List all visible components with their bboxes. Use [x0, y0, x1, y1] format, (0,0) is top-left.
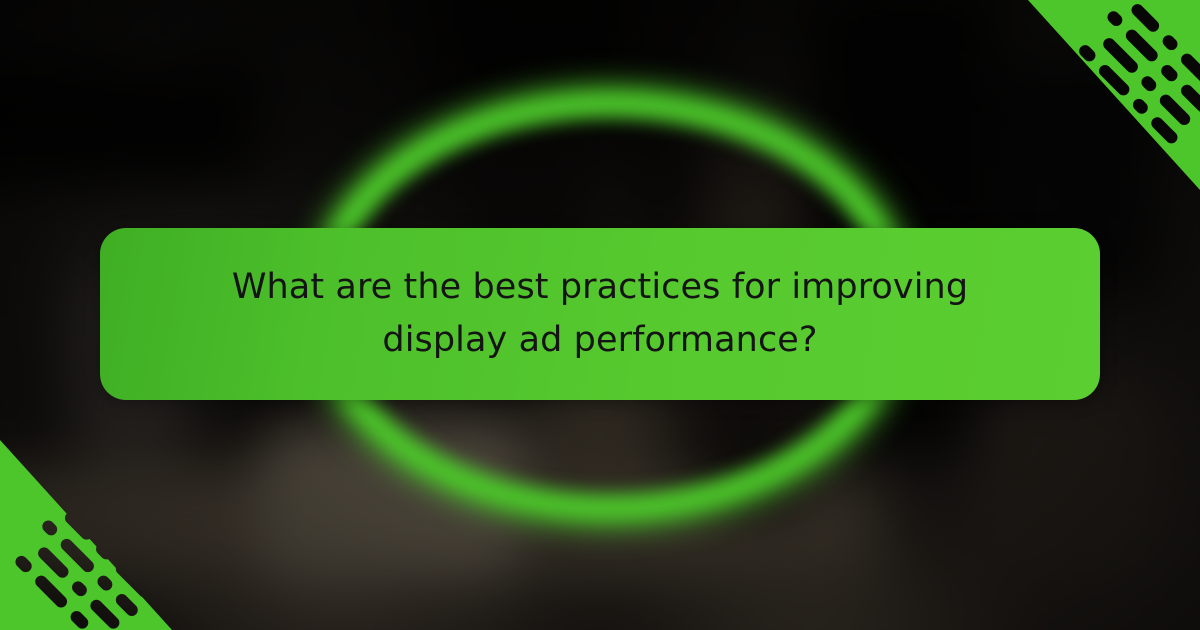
question-card-canvas: What are the best practices for improvin…: [0, 0, 1200, 630]
question-card: What are the best practices for improvin…: [100, 228, 1100, 400]
question-text: What are the best practices for improvin…: [232, 261, 968, 367]
